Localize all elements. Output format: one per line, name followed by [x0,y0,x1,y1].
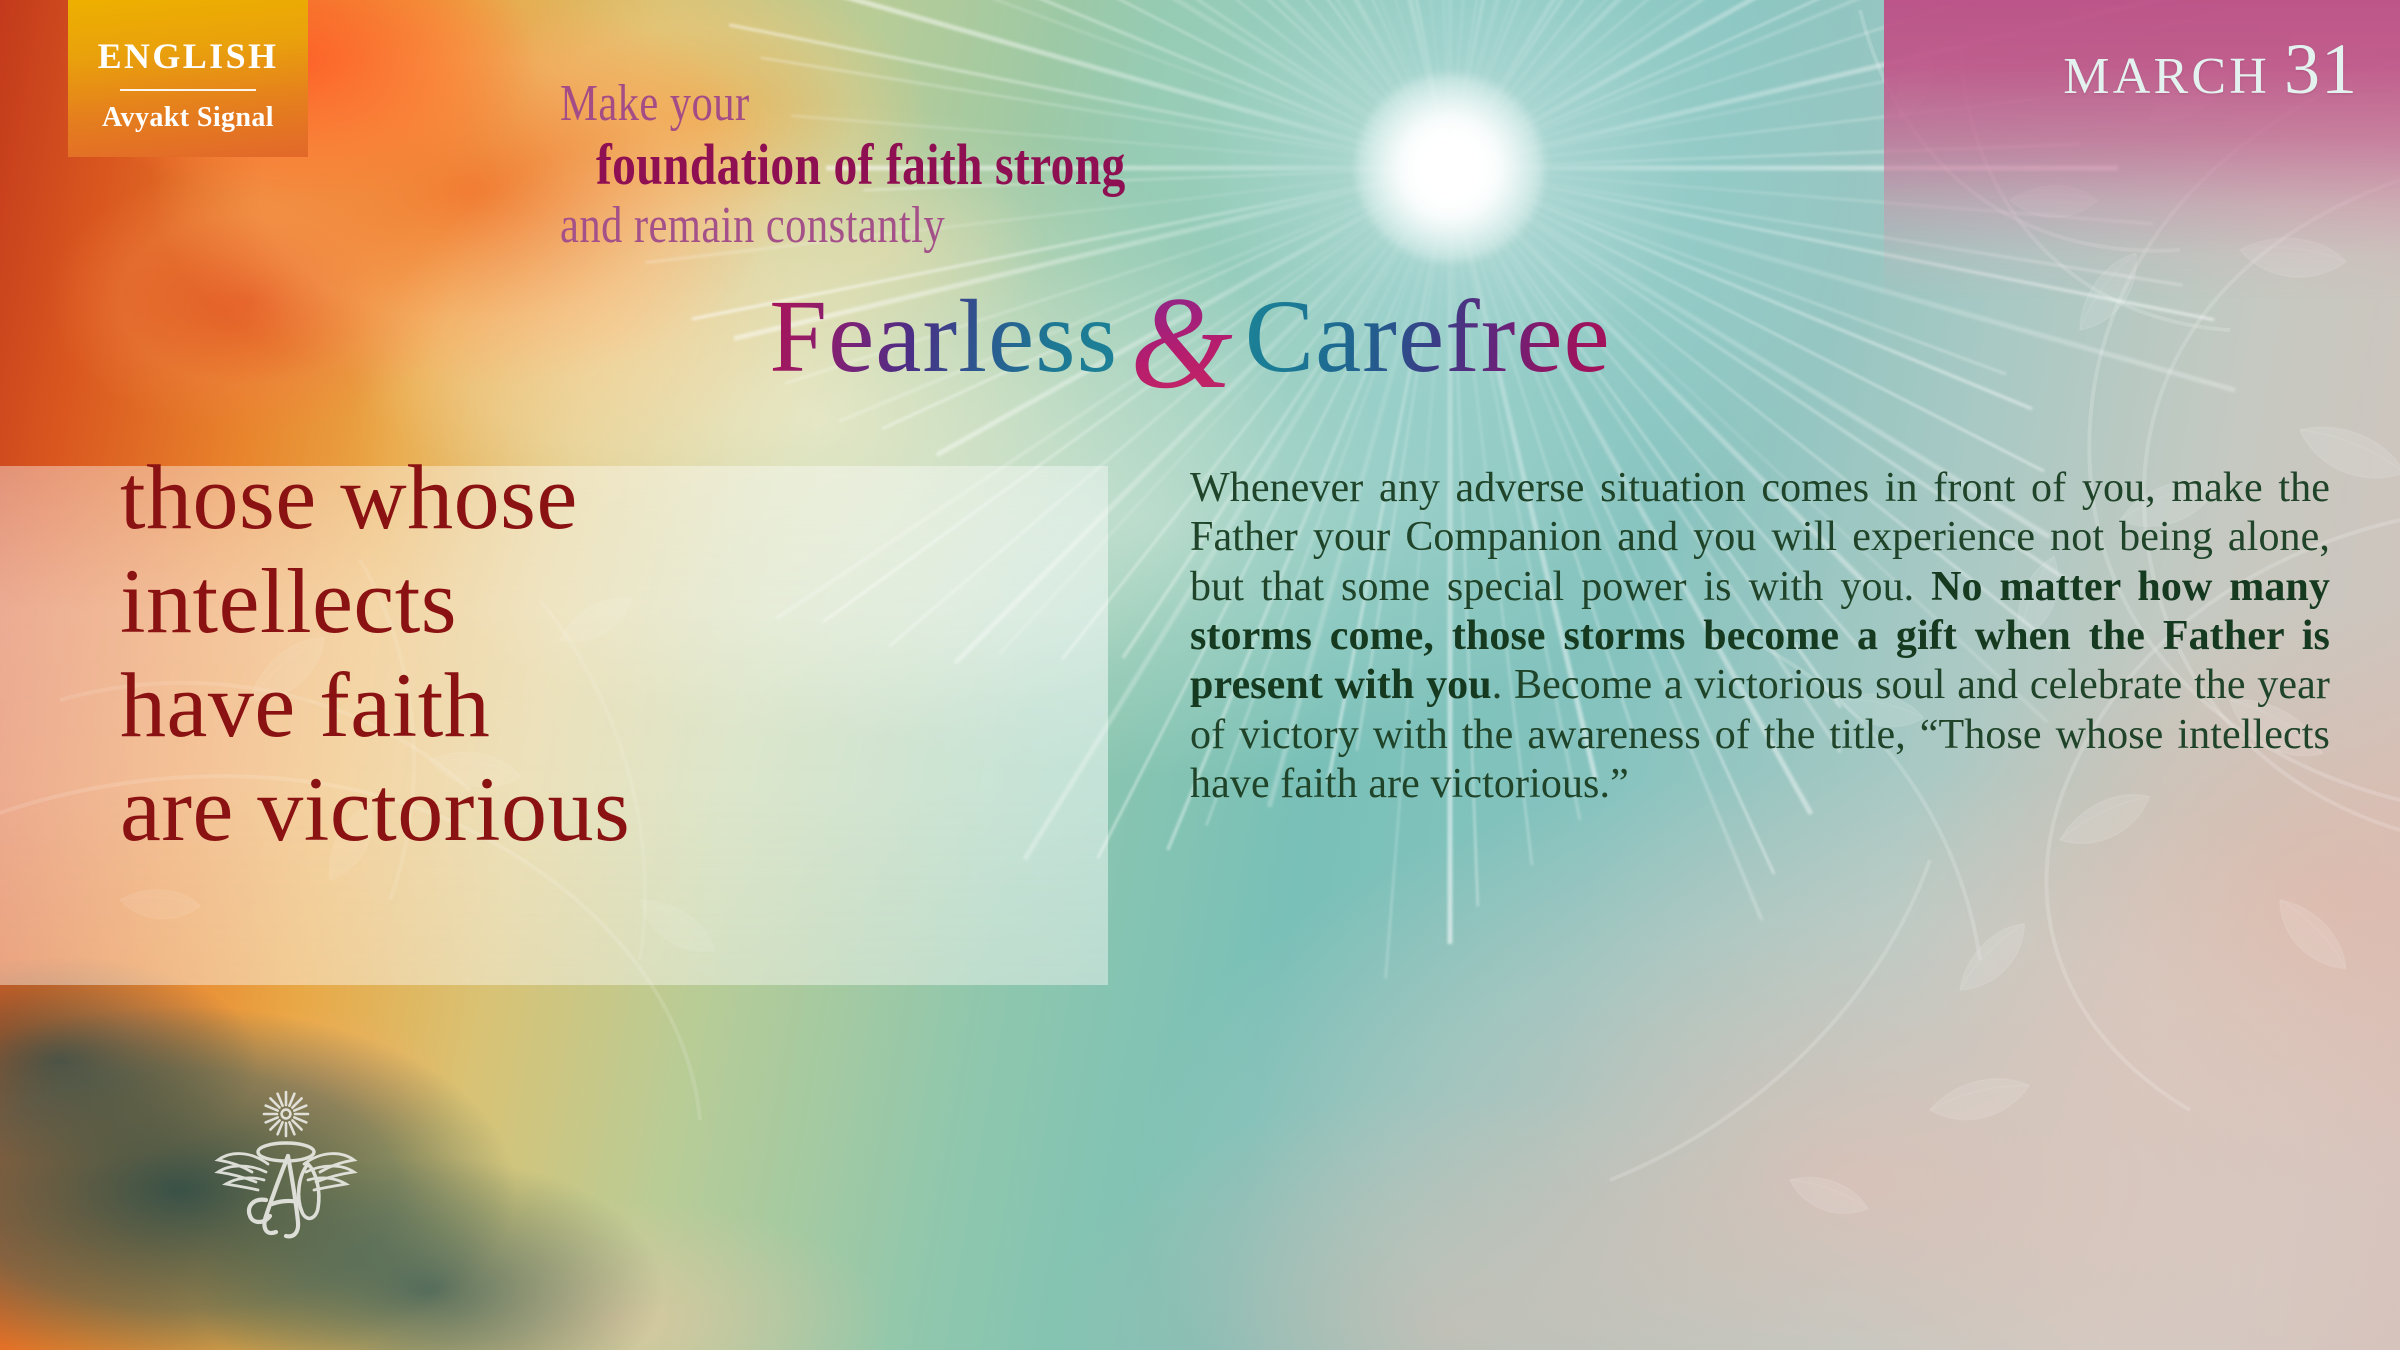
language-divider [120,89,256,91]
headline-line-1: those whose [120,452,1140,542]
date-badge: MARCH31 [1884,0,2400,300]
tagline-block: Make your foundation of faith strong and… [560,78,1800,252]
date-text: MARCH31 [1884,28,2358,111]
body-paragraph: Whenever any adverse situation comes in … [1190,464,2330,809]
tagline-line-1: Make your [560,78,750,130]
tagline-line-3: and remain constantly [560,200,945,252]
headline-line-4: are victorious [120,764,1140,854]
tagline-line-2: foundation of faith strong [596,136,1126,194]
language-subtitle: Avyakt Signal [68,104,308,132]
tagline-row-2: foundation of faith strong [560,130,1800,194]
tagline-row-3: and remain constantly [560,194,1800,252]
hero-word-carefree: Carefree [1245,284,1611,390]
headline-line-3: have faith [120,660,1140,750]
headline-line-2: intellects [120,556,1140,646]
headline-block: those whose intellects have faith are vi… [120,452,1140,855]
hero-word-fearless: Fearless [769,284,1118,390]
date-month: MARCH [2063,48,2270,105]
hero-phrase: Fearless&Carefree [560,270,1820,405]
language-name: ENGLISH [68,38,308,74]
date-day: 31 [2284,29,2358,109]
tagline-row-1: Make your [560,78,1800,130]
poster-canvas: ENGLISH Avyakt Signal MARCH31 Make your … [0,0,2400,1350]
language-badge: ENGLISH Avyakt Signal [68,0,308,157]
hero-ampersand: & [1130,276,1233,411]
